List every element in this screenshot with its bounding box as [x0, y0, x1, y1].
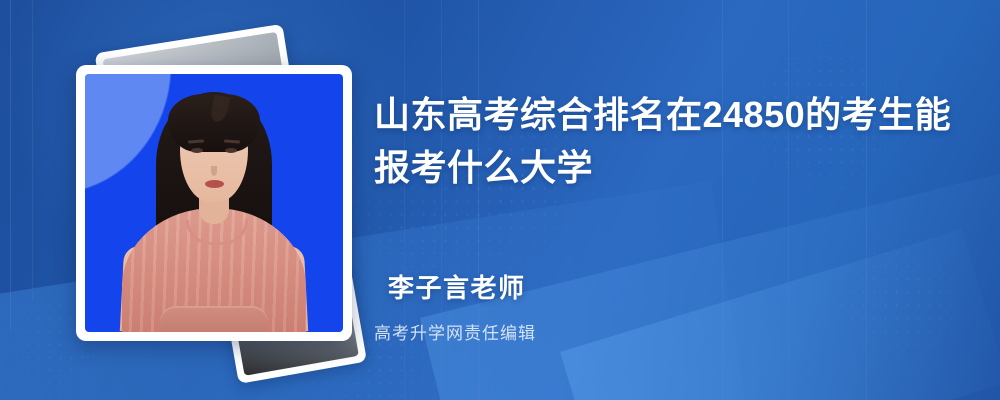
- article-banner: 山东高考综合排名在24850的考生能报考什么大学 李子言老师 高考升学网责任编辑: [0, 0, 1000, 400]
- photo-card-stack: [40, 30, 350, 360]
- author-block: 李子言老师 高考升学网责任编辑: [388, 268, 536, 344]
- author-name: 李子言老师: [388, 268, 536, 305]
- portrait-mouth: [205, 180, 224, 188]
- author-photo-card: [76, 65, 352, 341]
- banner-text-column: 山东高考综合排名在24850的考生能报考什么大学 李子言老师 高考升学网责任编辑: [374, 0, 974, 400]
- portrait-figure: [85, 74, 343, 332]
- portrait-eye-left: [191, 148, 203, 153]
- banner-title: 山东高考综合排名在24850的考生能报考什么大学: [374, 88, 962, 195]
- portrait-nose: [211, 166, 217, 176]
- author-photo: [85, 74, 343, 332]
- portrait-dress-waist: [160, 306, 268, 332]
- portrait-eye-right: [225, 148, 237, 153]
- author-role: 高考升学网责任编辑: [374, 319, 536, 344]
